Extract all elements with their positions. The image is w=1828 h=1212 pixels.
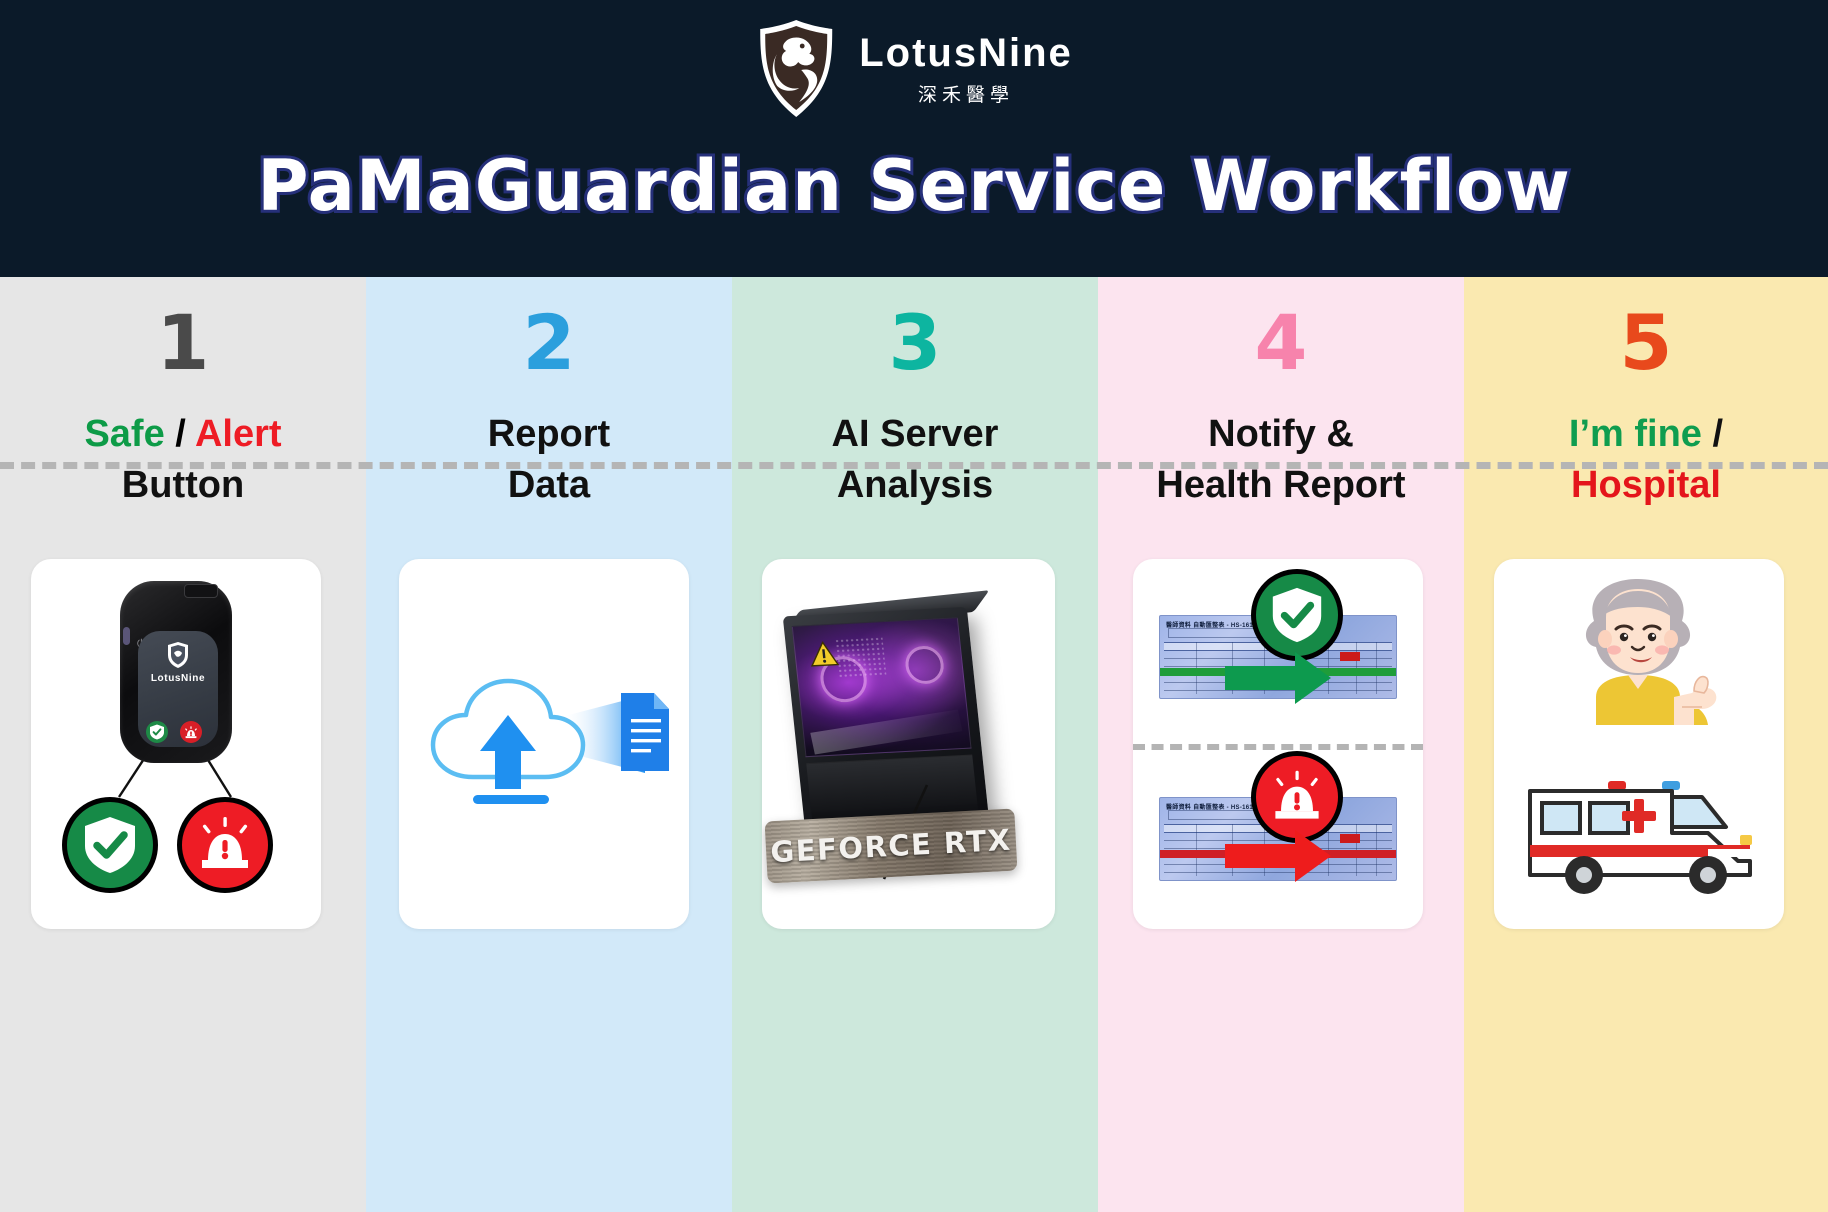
step-3-card: GEFORCE RTX [762, 559, 1055, 929]
step-1-card: ⏻ LotusNine [31, 559, 321, 929]
device-led [123, 627, 130, 645]
step-label-5: I’m fine / Hospital [1464, 409, 1828, 512]
workflow-step-2: 2 Report Data [366, 277, 732, 1212]
shield-check-icon [79, 814, 141, 876]
elderly-woman-thumbs-up-icon [1534, 575, 1748, 725]
device-shield-logo-icon [166, 641, 190, 669]
workflow-step-5: 5 I’m fine / Hospital [1464, 277, 1828, 1212]
step-2-card [399, 559, 689, 929]
brand-name-cn: 深禾醫學 [918, 80, 1014, 107]
device-notch [184, 584, 218, 598]
step-label-2: Report Data [366, 409, 732, 512]
report-highlight-cell [1340, 834, 1360, 843]
step5-slash: / [1702, 413, 1723, 455]
green-arrow [1225, 650, 1333, 706]
shield-check-icon [1267, 585, 1327, 645]
alert-status-badge [177, 797, 273, 893]
ambulance-icon [1512, 775, 1768, 899]
alarm-siren-icon [1266, 766, 1328, 828]
step5-fine-text: I’m fine [1569, 413, 1702, 455]
device-safe-button[interactable] [146, 721, 168, 743]
brand-text: LotusNine 深禾醫學 [859, 32, 1073, 107]
alarm-siren-icon [192, 812, 258, 878]
brand-lockup: LotusNine 深禾醫學 [755, 18, 1073, 120]
workflow-columns: 1 Safe / Alert Button ⏻ [0, 277, 1828, 1212]
cloud-upload-icon [411, 665, 677, 825]
workflow-step-1: 1 Safe / Alert Button ⏻ [0, 277, 366, 1212]
workflow-step-3: 3 AI Server Analysis [732, 277, 1098, 1212]
page-header: LotusNine 深禾醫學 PaMaGuardian Service Work… [0, 0, 1828, 277]
step3-label-line1: AI Server [832, 413, 999, 455]
page-title: PaMaGuardian Service Workflow [0, 145, 1828, 227]
step-number-2: 2 [366, 305, 732, 381]
step1-alert-text: Alert [195, 413, 282, 455]
step-label-1: Safe / Alert Button [0, 409, 366, 512]
red-arrow [1225, 828, 1333, 884]
step-number-1: 1 [0, 305, 366, 381]
device-alert-button[interactable] [180, 721, 202, 743]
step-number-3: 3 [732, 305, 1098, 381]
lotusnine-shield-dragon-logo-icon [755, 18, 837, 120]
step1-slash: / [165, 413, 195, 455]
workflow-step-4: 4 Notify & Health Report 醫師資料 自動匯整表 - HS… [1098, 277, 1464, 1212]
shield-check-icon [149, 724, 165, 740]
report-highlight-cell [1340, 652, 1360, 661]
device-screen-brand: LotusNine [138, 673, 218, 684]
panel-dashed-connector [0, 462, 1828, 469]
cloud-upload-graphic [411, 665, 677, 825]
step2-label-line1: Report [488, 413, 610, 455]
step-number-5: 5 [1464, 305, 1828, 381]
step-label-3: AI Server Analysis [732, 409, 1098, 512]
card-dashed-divider [1133, 744, 1423, 750]
ai-server-graphic: GEFORCE RTX [762, 579, 1055, 919]
report-safe-badge [1251, 569, 1343, 661]
pamaguardian-device: ⏻ LotusNine [120, 581, 232, 763]
geforce-rtx-label: GEFORCE RTX [765, 809, 1018, 884]
alarm-siren-icon [183, 724, 199, 740]
step4-label-line1: Notify & [1208, 413, 1354, 455]
brand-name: LotusNine [859, 32, 1073, 74]
step1-safe-text: Safe [84, 413, 164, 455]
step-number-4: 4 [1098, 305, 1464, 381]
step-label-4: Notify & Health Report [1098, 409, 1464, 512]
infographic-page: LotusNine 深禾醫學 PaMaGuardian Service Work… [0, 0, 1828, 1212]
safe-status-badge [62, 797, 158, 893]
step-5-card [1494, 559, 1784, 929]
gpu-label-text: GEFORCE RTX [770, 823, 1013, 870]
